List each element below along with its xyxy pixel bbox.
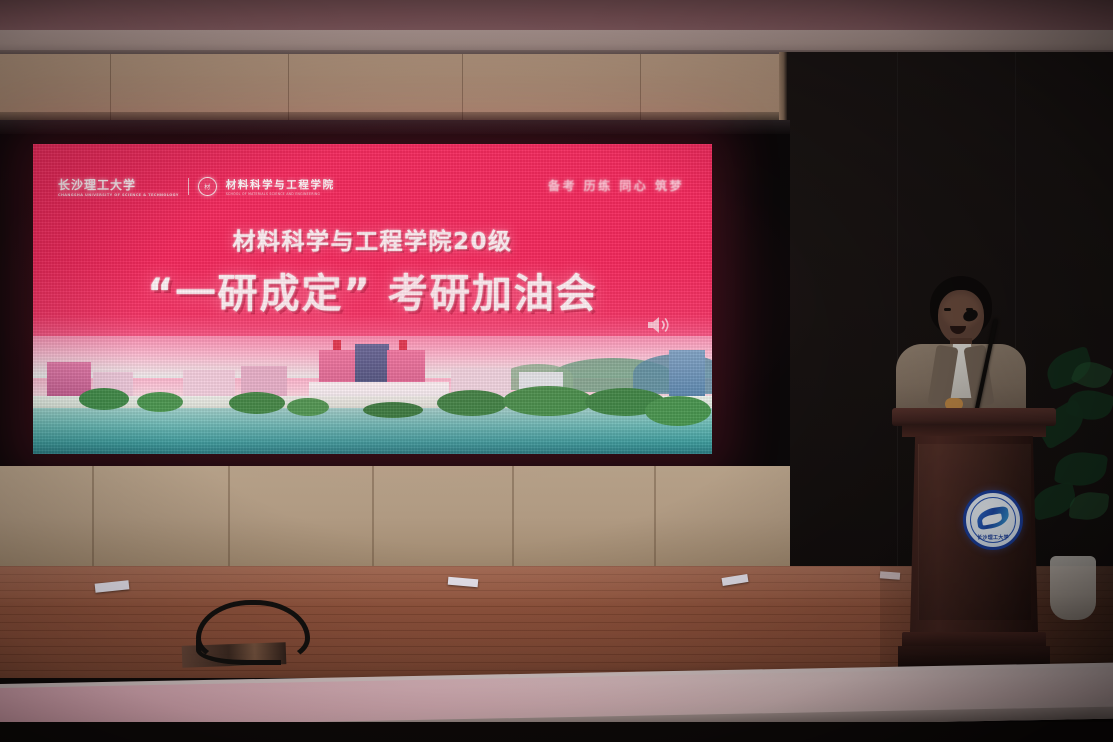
emblem-university-text: 长沙理工大学 (966, 534, 1020, 541)
university-name-en: CHANGSHA UNIVERSITY OF SCIENCE & TECHNOL… (58, 193, 179, 197)
university-name-cn: 长沙理工大学 (58, 178, 136, 192)
table-underside-shadow (0, 722, 1113, 742)
led-display[interactable]: 长沙理工大学 CHANGSHA UNIVERSITY OF SCIENCE & … (33, 144, 712, 454)
podium-top-surface (892, 408, 1056, 426)
podium-neck (902, 425, 1046, 437)
brand-logos-left: 长沙理工大学 CHANGSHA UNIVERSITY OF SCIENCE & … (58, 176, 335, 197)
headline-line-2: “一研成定” 考研加油会 (33, 261, 712, 319)
slide-headline: 材料科学与工程学院20级 “一研成定” 考研加油会 (33, 222, 712, 319)
lower-wood-wall (0, 466, 790, 568)
school-name-en: SCHOOL OF MATERIALS SCIENCE AND ENGINEER… (226, 192, 335, 196)
person-eye-left (944, 308, 951, 311)
seal-glyph: 材 (204, 182, 210, 191)
school-wordmark: 材料科学与工程学院 SCHOOL OF MATERIALS SCIENCE AN… (226, 177, 335, 196)
auditorium-scene: 长沙理工大学 CHANGSHA UNIVERSITY OF SCIENCE & … (0, 0, 1113, 742)
slide-brand-row: 长沙理工大学 CHANGSHA UNIVERSITY OF SCIENCE & … (33, 176, 712, 202)
school-seal-icon: 材 (198, 177, 217, 196)
campus-panorama-photo (33, 336, 712, 454)
speaker-volume-icon[interactable] (645, 314, 671, 336)
slide-right-watermark: 备考 历练 同心 筑梦 (548, 177, 684, 194)
ceiling (0, 0, 1113, 34)
brand-divider (188, 178, 189, 195)
university-wordmark: 长沙理工大学 CHANGSHA UNIVERSITY OF SCIENCE & … (58, 176, 179, 197)
ceiling-beam (0, 30, 1113, 52)
plant-pot (1050, 556, 1096, 620)
headline-line-1: 材料科学与工程学院20级 (33, 222, 712, 256)
school-name-cn: 材料科学与工程学院 (226, 179, 335, 191)
university-emblem-icon: 长沙理工大学 (963, 490, 1023, 550)
speaker-person (896, 276, 1026, 416)
paper-scrap (880, 571, 900, 579)
screen-housing-gloss (0, 120, 790, 134)
